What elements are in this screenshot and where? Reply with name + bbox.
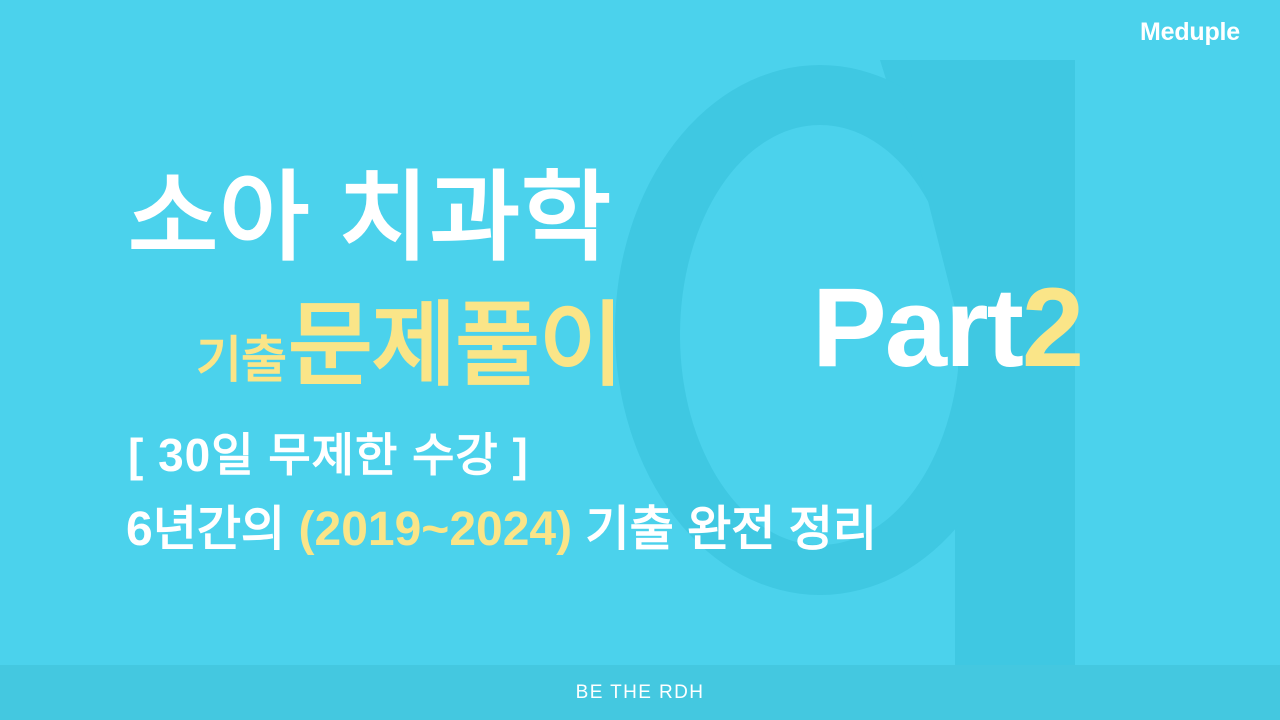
coverage-suffix: 기출 완전 정리 [572,503,877,556]
subtitle-line: 기출 문제풀이 [196,300,623,392]
coverage-year-range: (2019~2024) [299,503,573,556]
footer-bar: BE THE RDH [0,665,1280,720]
part-number: 2 [1022,265,1082,390]
coverage-text: 6년간의 (2019~2024) 기출 완전 정리 [126,506,877,554]
course-thumbnail-slide: Meduple 소아 치과학 기출 문제풀이 Part2 [ 30일 무제한 수… [0,0,1280,720]
footer-tagline: BE THE RDH [576,683,705,702]
subtitle-large-text: 문제풀이 [288,300,623,392]
coverage-prefix: 6년간의 [126,503,299,556]
subtitle-small-text: 기출 [196,335,286,385]
access-duration-text: [ 30일 무제한 수강 ] [128,432,529,478]
part-word: Part [812,265,1022,390]
part-label: Part2 [812,272,1082,384]
page-title: 소아 치과학 [128,168,612,266]
headline-block: 소아 치과학 기출 문제풀이 Part2 [ 30일 무제한 수강 ] 6년간의… [0,0,1280,665]
